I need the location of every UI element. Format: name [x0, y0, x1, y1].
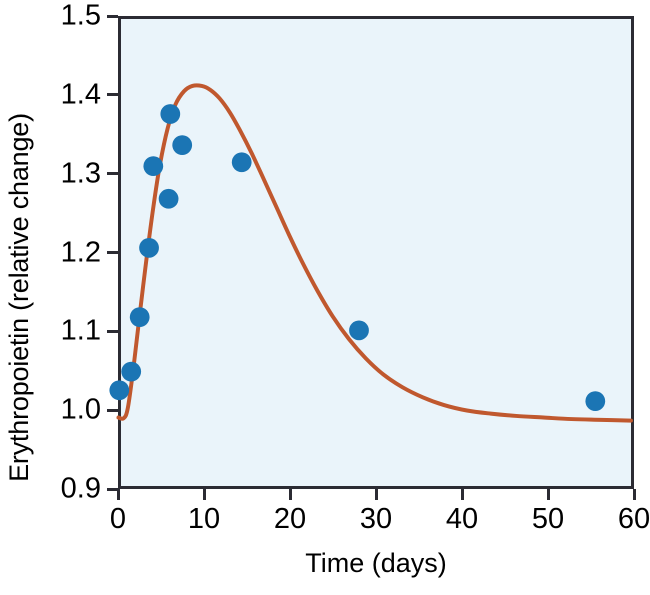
- data-point-marker: [139, 238, 159, 258]
- data-point-marker: [160, 104, 180, 124]
- x-tick-label: 30: [360, 503, 392, 536]
- data-point-marker: [143, 156, 163, 176]
- plot-area: [118, 16, 634, 489]
- x-tick-mark: [633, 489, 636, 500]
- x-tick-mark: [375, 489, 378, 500]
- x-tick-label: 40: [446, 503, 478, 536]
- x-tick-mark: [461, 489, 464, 500]
- y-tick-label: 0.9: [30, 473, 101, 506]
- x-tick-label: 20: [274, 503, 306, 536]
- y-tick-mark: [107, 251, 118, 254]
- y-tick-mark: [107, 93, 118, 96]
- x-tick-label: 60: [618, 503, 650, 536]
- data-points-group: [109, 104, 605, 411]
- data-point-marker: [232, 152, 252, 172]
- x-tick-label: 10: [188, 503, 220, 536]
- x-tick-label: 50: [532, 503, 564, 536]
- y-tick-mark: [107, 330, 118, 333]
- data-point-marker: [349, 320, 369, 340]
- data-point-marker: [172, 135, 192, 155]
- model-fit-curve: [118, 85, 631, 420]
- data-point-marker: [159, 189, 179, 209]
- y-tick-mark: [107, 409, 118, 412]
- y-tick-label: 1.3: [30, 157, 101, 190]
- plot-canvas: [121, 19, 631, 486]
- data-point-marker: [109, 380, 129, 400]
- model-fit-line-group: [118, 85, 631, 420]
- x-tick-mark: [203, 489, 206, 500]
- x-tick-mark: [117, 489, 120, 500]
- data-point-marker: [585, 391, 605, 411]
- y-tick-label: 1.5: [30, 0, 101, 33]
- data-point-marker: [130, 307, 150, 327]
- y-tick-label: 1.4: [30, 78, 101, 111]
- y-tick-mark: [107, 15, 118, 18]
- x-axis-title: Time (days): [118, 548, 634, 579]
- y-tick-label: 1.2: [30, 236, 101, 269]
- y-tick-label: 1.1: [30, 315, 101, 348]
- y-tick-label: 1.0: [30, 394, 101, 427]
- data-point-marker: [121, 362, 141, 382]
- erythropoietin-time-course-chart: Erythropoietin (relative change) 0.91.01…: [0, 0, 650, 595]
- x-tick-label: 0: [110, 503, 126, 536]
- y-tick-mark: [107, 172, 118, 175]
- x-tick-mark: [289, 489, 292, 500]
- x-tick-mark: [547, 489, 550, 500]
